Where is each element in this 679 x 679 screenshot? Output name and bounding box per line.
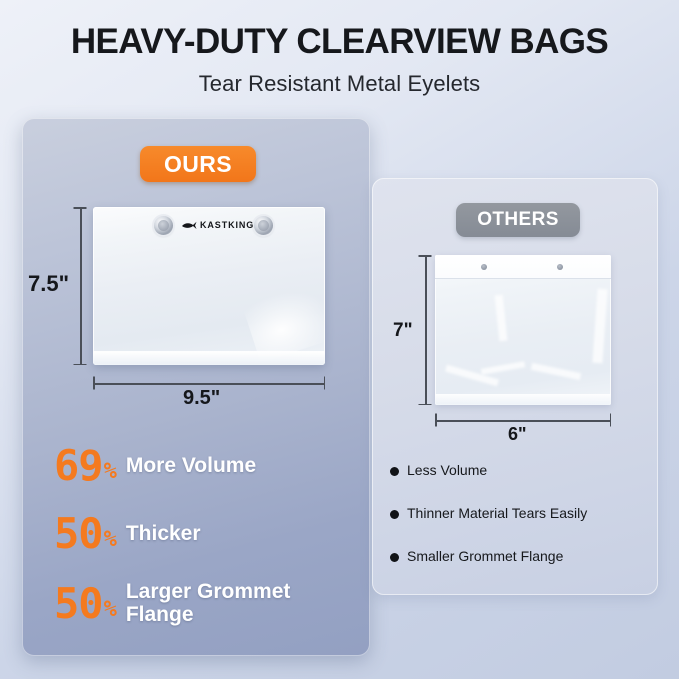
bag-wrinkle xyxy=(481,361,525,375)
brand-name: KASTKING xyxy=(200,220,254,230)
bag-wrinkle xyxy=(495,295,508,342)
ours-height-dimension-line xyxy=(72,207,88,365)
ours-badge-label: OURS xyxy=(164,151,232,178)
grommet-icon xyxy=(154,216,173,235)
bullet-dot-icon xyxy=(390,510,399,519)
bag-wrinkle xyxy=(592,289,607,364)
list-item: Thinner Material Tears Easily xyxy=(390,505,640,522)
others-width-label: 6" xyxy=(508,424,527,445)
stat-item: 50 % Thicker xyxy=(54,513,354,555)
others-bullet-list: Less Volume Thinner Material Tears Easil… xyxy=(390,462,640,564)
stat-label: Thicker xyxy=(126,523,201,546)
bullet-label: Less Volume xyxy=(407,462,487,479)
page-subtitle: Tear Resistant Metal Eyelets xyxy=(0,71,679,97)
others-height-dimension-line xyxy=(418,255,432,405)
others-bag-image xyxy=(435,255,611,405)
stat-percent-sign: % xyxy=(104,461,117,483)
stat-label: Larger Grommet Flange xyxy=(126,581,354,626)
brand-logo: KASTKING xyxy=(181,220,254,230)
bullet-dot-icon xyxy=(390,553,399,562)
others-badge-label: OTHERS xyxy=(477,209,559,231)
stat-label: More Volume xyxy=(126,455,256,478)
list-item: Less Volume xyxy=(390,462,640,479)
stat-number: 50 xyxy=(54,583,103,625)
grommet-icon xyxy=(254,216,273,235)
header: HEAVY-DUTY CLEARVIEW BAGS Tear Resistant… xyxy=(0,22,679,97)
stat-item: 50 % Larger Grommet Flange xyxy=(54,581,354,626)
others-bag-header-strip xyxy=(435,255,611,279)
stat-percent-sign: % xyxy=(104,529,117,551)
stat-percent-sign: % xyxy=(104,599,117,621)
bullet-label: Smaller Grommet Flange xyxy=(407,548,563,565)
ours-badge: OURS xyxy=(140,146,256,182)
bullet-dot-icon xyxy=(390,467,399,476)
stat-item: 69 % More Volume xyxy=(54,445,354,487)
others-badge: OTHERS xyxy=(456,203,580,237)
ours-stats-list: 69 % More Volume 50 % Thicker 50 % Large… xyxy=(54,445,354,626)
page-title: HEAVY-DUTY CLEARVIEW BAGS xyxy=(0,22,679,62)
others-height-label: 7" xyxy=(393,320,413,342)
punch-hole-icon xyxy=(557,264,563,270)
stat-number: 50 xyxy=(54,513,103,555)
ours-width-label: 9.5" xyxy=(183,387,220,410)
bag-wrinkle xyxy=(531,363,581,380)
punch-hole-icon xyxy=(481,264,487,270)
stat-number: 69 xyxy=(54,445,103,487)
bullet-label: Thinner Material Tears Easily xyxy=(407,505,587,522)
ours-height-label: 7.5" xyxy=(28,271,69,297)
ours-bag-image: KASTKING xyxy=(93,207,325,365)
fish-icon xyxy=(181,221,197,230)
ours-bag-sheen xyxy=(242,277,325,363)
list-item: Smaller Grommet Flange xyxy=(390,548,640,565)
